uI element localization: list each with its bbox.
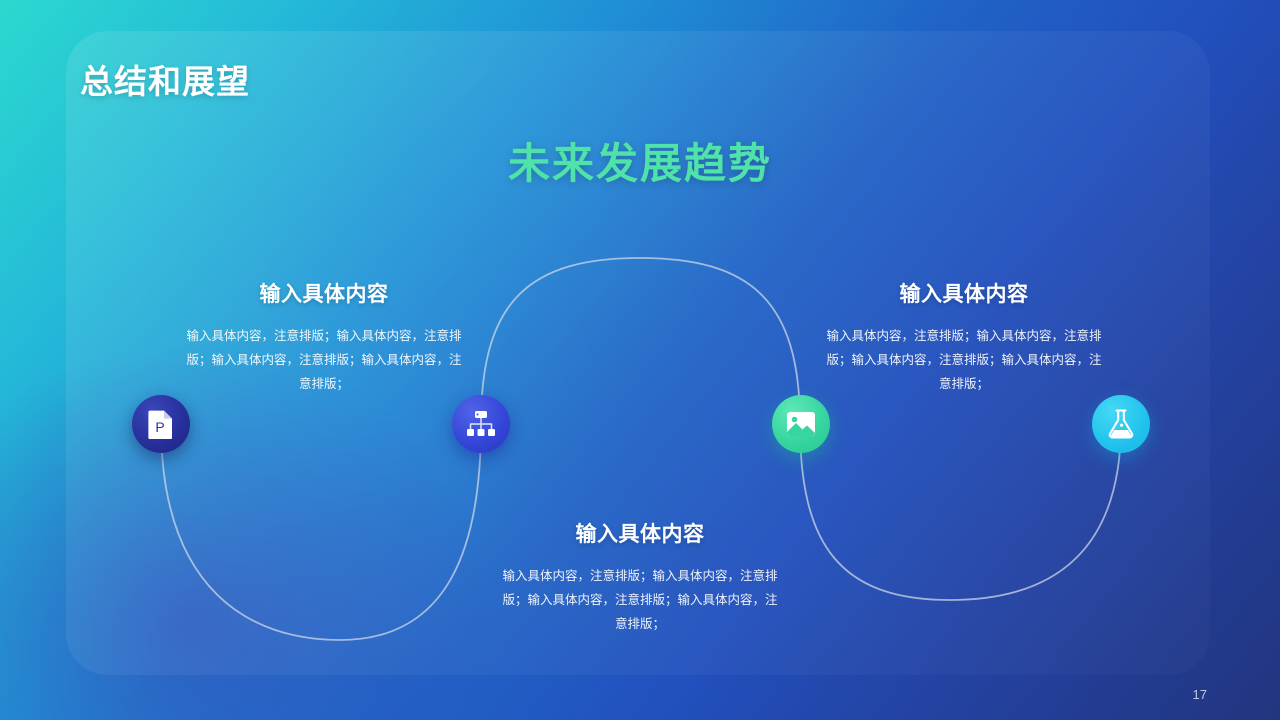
content-block-1-body: 输入具体内容，注意排版；输入具体内容，注意排版；输入具体内容，注意排版；输入具体… [174, 324, 474, 396]
image-icon [786, 411, 816, 437]
main-heading: 未来发展趋势 [0, 130, 1280, 191]
node-2-sitemap[interactable] [452, 395, 510, 453]
content-block-1-title: 输入具体内容 [174, 278, 474, 308]
content-block-2: 输入具体内容 输入具体内容，注意排版；输入具体内容，注意排版；输入具体内容，注意… [490, 518, 790, 636]
presentation-slide: 总结和展望 未来发展趋势 输入具体内容 输入具体内容，注意排版；输入具体内容，注… [0, 0, 1280, 720]
node-4-flask[interactable] [1092, 395, 1150, 453]
flask-icon [1107, 409, 1135, 439]
node-1-file-presentation[interactable]: P [132, 395, 190, 453]
page-number: 17 [1193, 687, 1207, 702]
content-block-3-body: 输入具体内容，注意排版；输入具体内容，注意排版；输入具体内容，注意排版；输入具体… [814, 324, 1114, 396]
content-block-1: 输入具体内容 输入具体内容，注意排版；输入具体内容，注意排版；输入具体内容，注意… [174, 278, 474, 396]
node-3-image[interactable] [772, 395, 830, 453]
content-block-2-title: 输入具体内容 [490, 518, 790, 548]
sitemap-icon [466, 410, 496, 438]
content-block-3-title: 输入具体内容 [814, 278, 1114, 308]
slide-title: 总结和展望 [80, 55, 250, 103]
content-block-2-body: 输入具体内容，注意排版；输入具体内容，注意排版；输入具体内容，注意排版；输入具体… [490, 564, 790, 636]
content-block-3: 输入具体内容 输入具体内容，注意排版；输入具体内容，注意排版；输入具体内容，注意… [814, 278, 1114, 396]
file-presentation-icon: P [148, 409, 174, 439]
svg-text:P: P [155, 419, 164, 435]
